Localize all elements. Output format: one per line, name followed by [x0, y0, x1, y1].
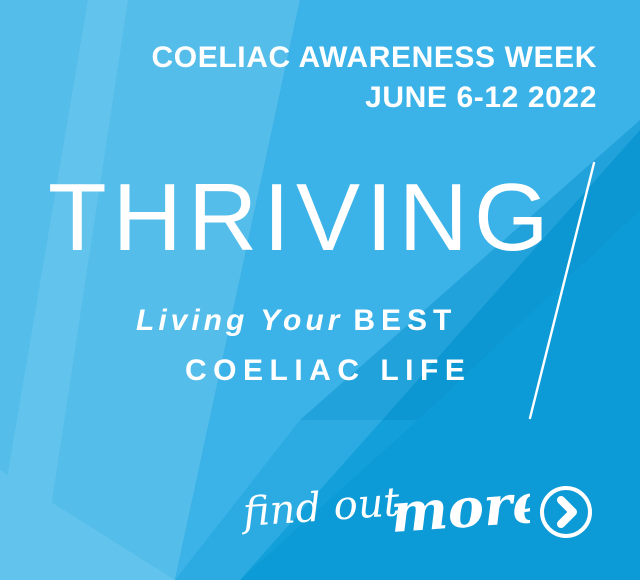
event-kicker: COELIAC AWARENESS WEEK JUNE 6-12 2022: [152, 38, 597, 118]
cta-script-text[interactable]: find out more: [240, 470, 530, 550]
subheadline-script: Living Your: [136, 304, 343, 337]
cta-script-light: find out: [240, 479, 402, 536]
cta-script-bold: more: [388, 470, 530, 545]
kicker-line-1: COELIAC AWARENESS WEEK: [152, 38, 597, 78]
subheadline-line-2: COELIAC LIFE: [185, 353, 471, 389]
subheadline-line-1: Living YourBEST: [136, 303, 457, 339]
find-out-more-cta[interactable]: find out more: [240, 470, 600, 550]
kicker-line-2: JUNE 6-12 2022: [152, 78, 597, 118]
page-title: THRIVING: [48, 168, 555, 268]
chevron-right-circle-icon[interactable]: [538, 484, 594, 540]
subheadline-caps: BEST: [343, 304, 457, 337]
coeliac-awareness-week-banner[interactable]: COELIAC AWARENESS WEEK JUNE 6-12 2022 TH…: [0, 0, 640, 580]
